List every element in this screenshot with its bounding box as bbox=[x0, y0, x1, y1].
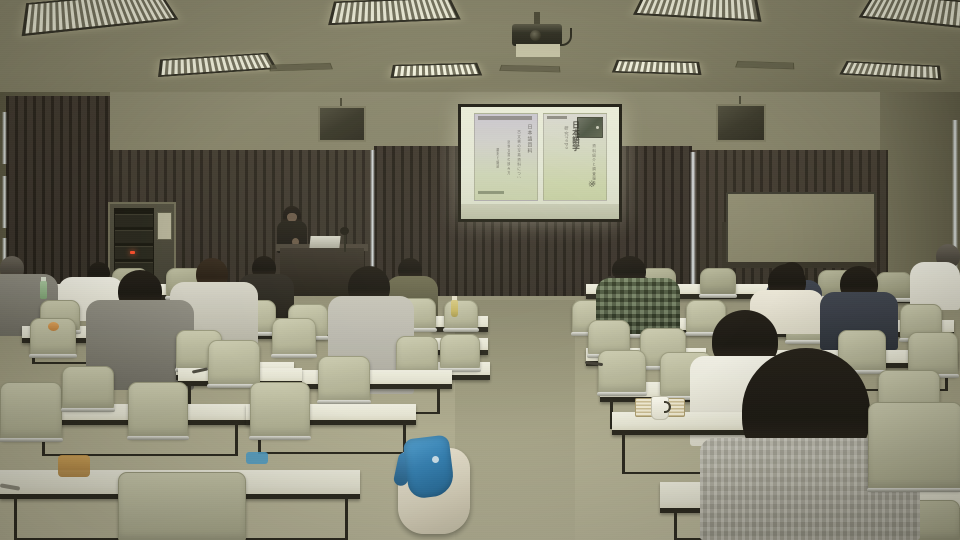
blue-object-under-desk bbox=[246, 452, 268, 464]
ceiling-light-6 bbox=[612, 60, 702, 75]
av-rack-shelf-2 bbox=[115, 230, 153, 243]
audience-right-4 bbox=[910, 262, 960, 310]
slide-right-page: 日本語学 研究report 資料紹介と調査報告について ※ bbox=[543, 113, 607, 201]
slide-left-body-2: 近世文書の読み方 bbox=[506, 140, 510, 180]
chair-front-left-7[interactable] bbox=[318, 356, 370, 402]
water-bottle-center[interactable] bbox=[451, 300, 458, 317]
power-led-icon bbox=[130, 251, 135, 254]
lecture-hall-photo: 日本語資料 古文書の写真資料について 近世文書の読み方 翻刻と解題 日本語学 研… bbox=[0, 0, 960, 540]
chair-foreground-right-2[interactable] bbox=[868, 402, 960, 490]
chair-far-right-2[interactable] bbox=[700, 268, 736, 296]
slide-left-header-rule bbox=[478, 116, 532, 120]
ceiling-light-4 bbox=[390, 63, 482, 78]
screen-bottom-band bbox=[461, 204, 619, 219]
av-rack-door-panel[interactable] bbox=[157, 212, 172, 240]
chair-front-right-5[interactable] bbox=[598, 350, 646, 394]
wall-speaker-right bbox=[716, 104, 766, 142]
av-rack-shelf-1 bbox=[115, 214, 153, 227]
water-bottle-left[interactable] bbox=[40, 281, 47, 299]
chair-front-left-2[interactable] bbox=[272, 318, 316, 356]
wall-speaker-left bbox=[318, 106, 366, 142]
slide-left-title: 日本語資料 bbox=[526, 124, 531, 168]
slide-right-header-rule bbox=[547, 116, 567, 119]
laptop[interactable] bbox=[309, 236, 340, 248]
projector-lens-icon bbox=[530, 30, 541, 41]
slide-left-footer-rule bbox=[478, 191, 504, 194]
slide-right-mark: ※ bbox=[588, 180, 596, 190]
chair-front-left-9[interactable] bbox=[128, 382, 188, 438]
backpack-logo-icon bbox=[432, 456, 439, 463]
slide-left-body-1: 古文書の写真資料について bbox=[517, 130, 521, 178]
window-light-gap-2 bbox=[2, 176, 7, 228]
slide-right-photo-highlight bbox=[596, 126, 599, 129]
window-light-gap-5 bbox=[690, 152, 696, 304]
chair-front-left-11[interactable] bbox=[62, 366, 114, 410]
chair-front-left-10[interactable] bbox=[250, 382, 310, 438]
projection-screen: 日本語資料 古文書の写真資料について 近世文書の読み方 翻刻と解題 日本語学 研… bbox=[458, 104, 622, 222]
slide-right-subtitle: 研究report bbox=[564, 126, 568, 150]
projector-label-plate bbox=[516, 44, 560, 57]
microphone-stand bbox=[344, 232, 346, 252]
chair-foreground-left-1[interactable] bbox=[118, 472, 246, 540]
whiteboard[interactable] bbox=[726, 192, 876, 268]
chair-mid-left-6[interactable] bbox=[444, 300, 478, 330]
bag-on-floor-left bbox=[58, 455, 90, 477]
chair-front-left-3[interactable] bbox=[396, 336, 438, 374]
slide-right-title: 日本語学 bbox=[572, 121, 580, 155]
chair-front-left-8[interactable] bbox=[0, 382, 62, 440]
orange-object-on-desk[interactable] bbox=[48, 322, 59, 331]
chair-front-left-4[interactable] bbox=[440, 334, 480, 370]
slide-left-body-3: 翻刻と解題 bbox=[495, 148, 498, 182]
slide-right-photo-thumbnail bbox=[577, 117, 603, 138]
microphone-icon bbox=[340, 227, 349, 235]
chair-front-left-6[interactable] bbox=[208, 340, 260, 386]
window-light-gap-1 bbox=[2, 112, 7, 164]
slide-left-page: 日本語資料 古文書の写真資料について 近世文書の読み方 翻刻と解題 bbox=[474, 113, 538, 201]
projected-slide: 日本語資料 古文書の写真資料について 近世文書の読み方 翻刻と解題 日本語学 研… bbox=[461, 107, 619, 219]
